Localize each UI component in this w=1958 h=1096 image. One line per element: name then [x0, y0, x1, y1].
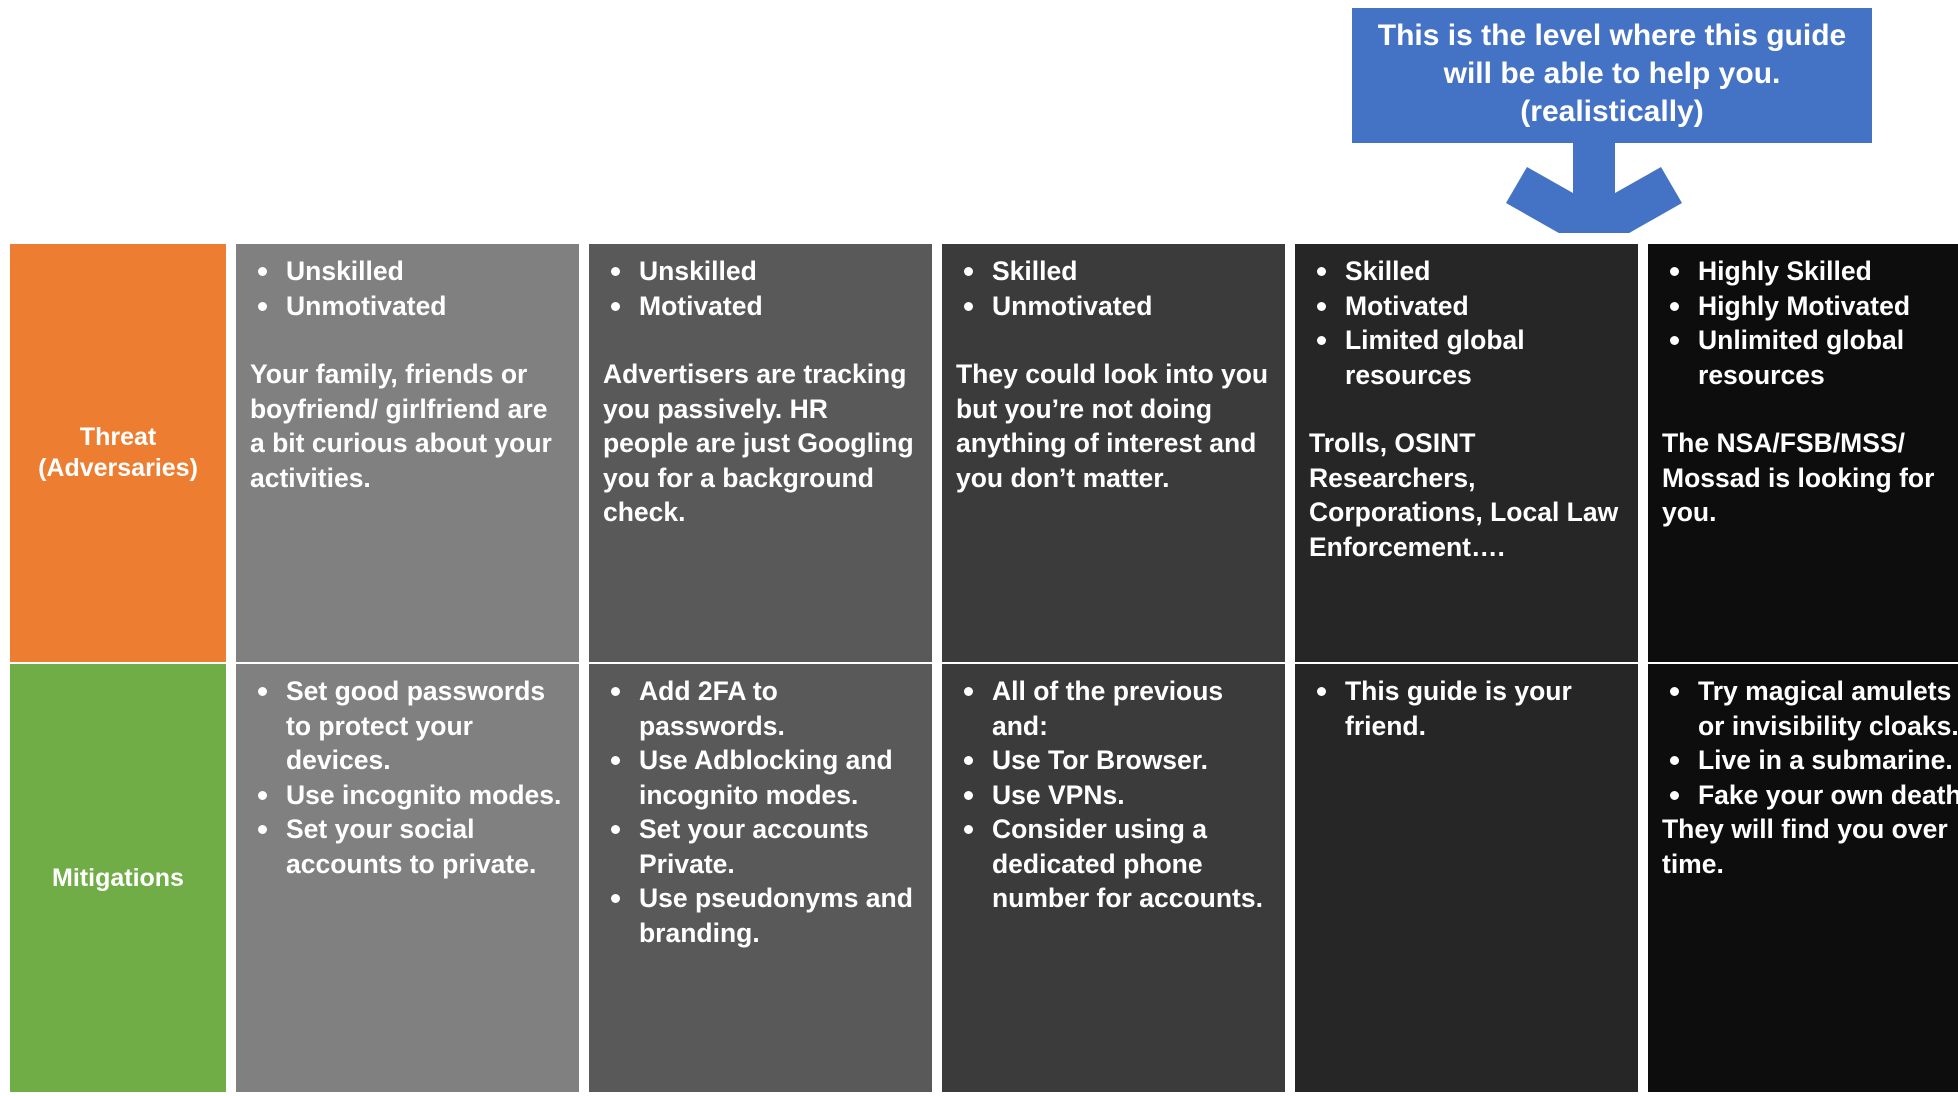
- threat-cell-level-1: Unskilled Unmotivated Your family, frien…: [236, 244, 579, 662]
- mitigations-bullets-level-2: Add 2FA to passwords. Use Adblocking and…: [597, 674, 918, 950]
- threat-cell-level-5: Highly Skilled Highly Motivated Unlimite…: [1648, 244, 1958, 662]
- threat-cell-level-2: Unskilled Motivated Advertisers are trac…: [589, 244, 932, 662]
- mitigations-cell-level-3: All of the previous and: Use Tor Browser…: [942, 664, 1285, 1092]
- mitigations-bullets-level-4: This guide is your friend.: [1303, 674, 1624, 743]
- list-item: Set good passwords to protect your devic…: [244, 674, 565, 778]
- threat-cell-level-4: Skilled Motivated Limited global resourc…: [1295, 244, 1638, 662]
- list-item: All of the previous and:: [950, 674, 1271, 743]
- threat-bullets-level-3: Skilled Unmotivated: [950, 254, 1271, 323]
- threat-model-matrix: Threat(Adversaries) Unskilled Unmotivate…: [10, 244, 1948, 1090]
- row-label-threat: Threat(Adversaries): [10, 244, 226, 662]
- mitigations-bullets-level-5: Try magical amulets or invisibility cloa…: [1656, 674, 1958, 812]
- list-item: Use VPNs.: [950, 778, 1271, 813]
- threat-bullets-level-4: Skilled Motivated Limited global resourc…: [1303, 254, 1624, 392]
- list-item: Fake your own death.: [1656, 778, 1958, 813]
- row-label-threat-text: Threat(Adversaries): [38, 422, 198, 484]
- list-item: Live in a submarine.: [1656, 743, 1958, 778]
- row-label-mitigations: Mitigations: [10, 664, 226, 1092]
- threat-description-level-4: Trolls, OSINT Researchers, Corporations,…: [1303, 426, 1624, 564]
- threat-description-level-5: The NSA/FSB/MSS/ Mossad is looking for y…: [1656, 426, 1958, 530]
- list-item: Highly Skilled: [1656, 254, 1958, 289]
- list-item: Limited global resources: [1303, 323, 1624, 392]
- list-item: Unmotivated: [244, 289, 565, 324]
- list-item: Set your accounts Private.: [597, 812, 918, 881]
- list-item: Unskilled: [244, 254, 565, 289]
- row-label-threat-line2: (Adversaries): [38, 454, 198, 482]
- callout-line-3: (realistically): [1520, 93, 1703, 131]
- mitigations-cell-level-4: This guide is your friend.: [1295, 664, 1638, 1092]
- arrow-down-icon: [1474, 141, 1714, 233]
- threat-cell-level-3: Skilled Unmotivated They could look into…: [942, 244, 1285, 662]
- threat-description-level-1: Your family, friends or boyfriend/ girlf…: [244, 357, 565, 495]
- list-item: Skilled: [950, 254, 1271, 289]
- list-item: Unskilled: [597, 254, 918, 289]
- mitigations-bullets-level-1: Set good passwords to protect your devic…: [244, 674, 565, 881]
- list-item: Skilled: [1303, 254, 1624, 289]
- list-item: Try magical amulets or invisibility cloa…: [1656, 674, 1958, 743]
- mitigations-bullets-level-3: All of the previous and: Use Tor Browser…: [950, 674, 1271, 916]
- list-item: Highly Motivated: [1656, 289, 1958, 324]
- list-item: Use Adblocking and incognito modes.: [597, 743, 918, 812]
- threat-bullets-level-1: Unskilled Unmotivated: [244, 254, 565, 323]
- threat-bullets-level-5: Highly Skilled Highly Motivated Unlimite…: [1656, 254, 1958, 392]
- mitigations-note-level-5: They will find you over time.: [1656, 812, 1958, 881]
- threat-bullets-level-2: Unskilled Motivated: [597, 254, 918, 323]
- list-item: Unmotivated: [950, 289, 1271, 324]
- callout-box: This is the level where this guide will …: [1352, 8, 1872, 143]
- list-item: This guide is your friend.: [1303, 674, 1624, 743]
- guide-level-callout: This is the level where this guide will …: [1352, 8, 1872, 228]
- list-item: Consider using a dedicated phone number …: [950, 812, 1271, 916]
- list-item: Use pseudonyms and branding.: [597, 881, 918, 950]
- mitigations-cell-level-1: Set good passwords to protect your devic…: [236, 664, 579, 1092]
- mitigations-cell-level-5: Try magical amulets or invisibility cloa…: [1648, 664, 1958, 1092]
- list-item: Motivated: [597, 289, 918, 324]
- row-label-threat-line1: Threat: [80, 423, 156, 451]
- threat-description-level-2: Advertisers are tracking you passively. …: [597, 357, 918, 530]
- list-item: Add 2FA to passwords.: [597, 674, 918, 743]
- callout-line-2: will be able to help you.: [1444, 55, 1781, 93]
- list-item: Motivated: [1303, 289, 1624, 324]
- mitigations-cell-level-2: Add 2FA to passwords. Use Adblocking and…: [589, 664, 932, 1092]
- callout-line-1: This is the level where this guide: [1378, 17, 1846, 55]
- list-item: Use Tor Browser.: [950, 743, 1271, 778]
- list-item: Unlimited global resources: [1656, 323, 1958, 392]
- list-item: Use incognito modes.: [244, 778, 565, 813]
- list-item: Set your social accounts to private.: [244, 812, 565, 881]
- row-label-mitigations-text: Mitigations: [52, 863, 184, 894]
- threat-description-level-3: They could look into you but you’re not …: [950, 357, 1271, 495]
